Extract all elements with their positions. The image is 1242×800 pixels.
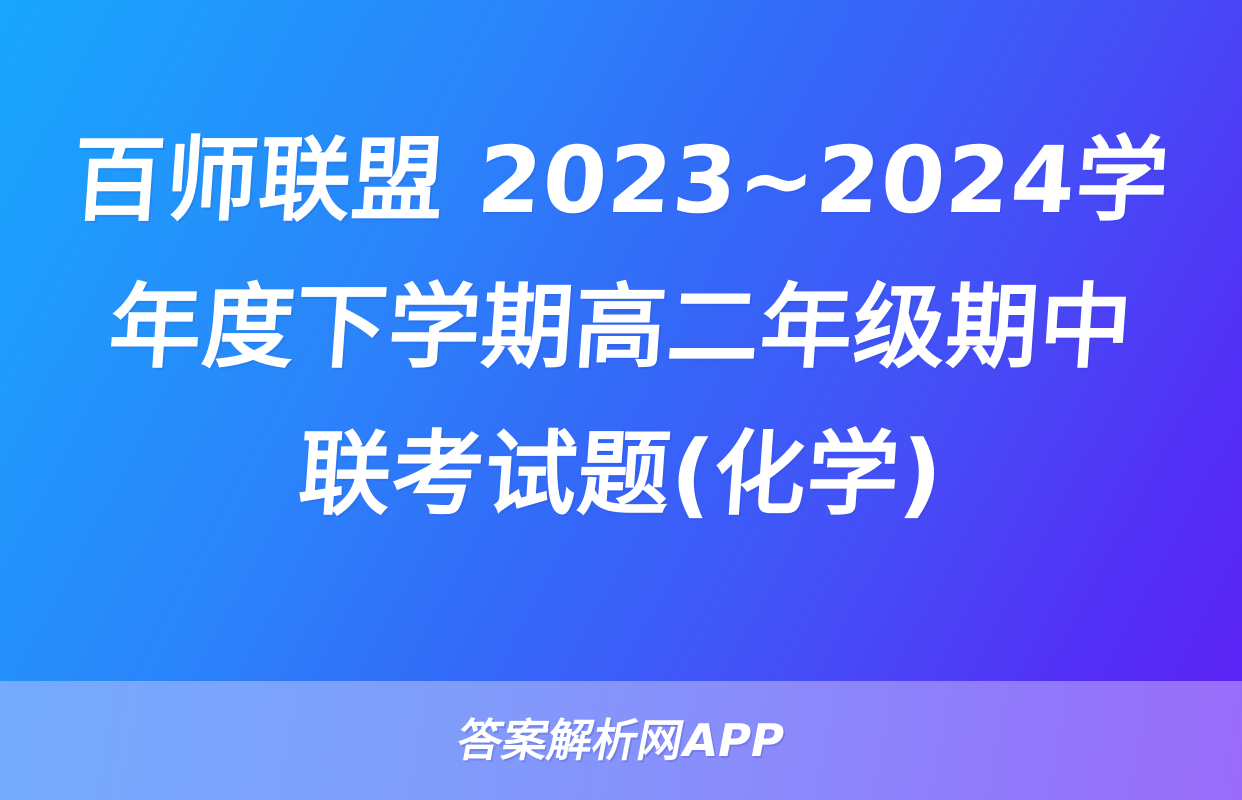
page-title: 百师联盟 2023~2024学 年度下学期高二年级期中 联考试题(化学) [0,0,1242,681]
title-line-3: 联考试题(化学) [61,401,1181,548]
title-line-1: 百师联盟 2023~2024学 [61,107,1181,254]
watermark-app-name: 答案解析网APP [454,718,789,763]
exam-paper-cover-poster: 百师联盟 2023~2024学 年度下学期高二年级期中 联考试题(化学) 答案解… [0,0,1242,800]
title-line-2: 年度下学期高二年级期中 [61,254,1181,401]
watermark: 答案解析网APP [0,681,1242,800]
